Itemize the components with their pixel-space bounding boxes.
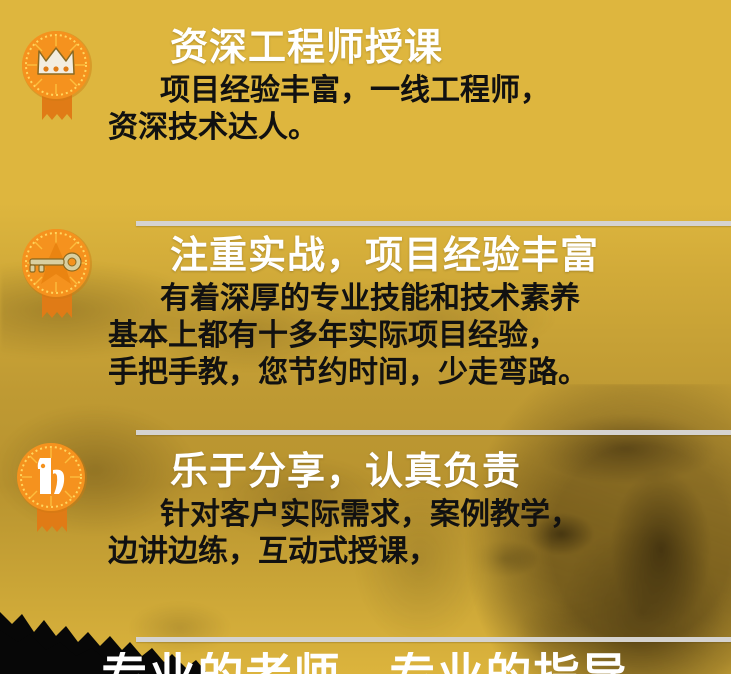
- thumbs-up-medal-icon: [7, 436, 97, 536]
- feature-2-text: 注重实战，项目经验丰富 有着深厚的专业技能和技术素养 基本上都有十多年实际项目经…: [130, 232, 731, 391]
- bottom-headline: 专业的老师，专业的指导: [0, 652, 731, 674]
- feature-3-body: 针对客户实际需求，案例教学， 边讲边练，互动式授课，: [108, 496, 731, 570]
- feature-1-text: 资深工程师授课 项目经验丰富，一线工程师， 资深技术达人。: [130, 24, 731, 146]
- feature-3-text: 乐于分享，认真负责 针对客户实际需求，案例教学， 边讲边练，互动式授课，: [130, 448, 731, 570]
- crown-medal-icon: [12, 24, 102, 124]
- feature-2-title: 注重实战，项目经验丰富: [170, 232, 731, 278]
- feature-3-title: 乐于分享，认真负责: [170, 448, 731, 494]
- promo-poster: 资深工程师授课 项目经验丰富，一线工程师， 资深技术达人。: [0, 0, 731, 674]
- divider-3: [136, 637, 731, 642]
- key-star-medal-icon: [12, 222, 102, 322]
- divider-1: [136, 221, 731, 226]
- feature-2-body: 有着深厚的专业技能和技术素养 基本上都有十多年实际项目经验， 手把手教，您节约时…: [108, 280, 731, 391]
- feature-1-body: 项目经验丰富，一线工程师， 资深技术达人。: [108, 72, 731, 146]
- divider-2: [136, 430, 731, 435]
- feature-1-title: 资深工程师授课: [170, 24, 731, 70]
